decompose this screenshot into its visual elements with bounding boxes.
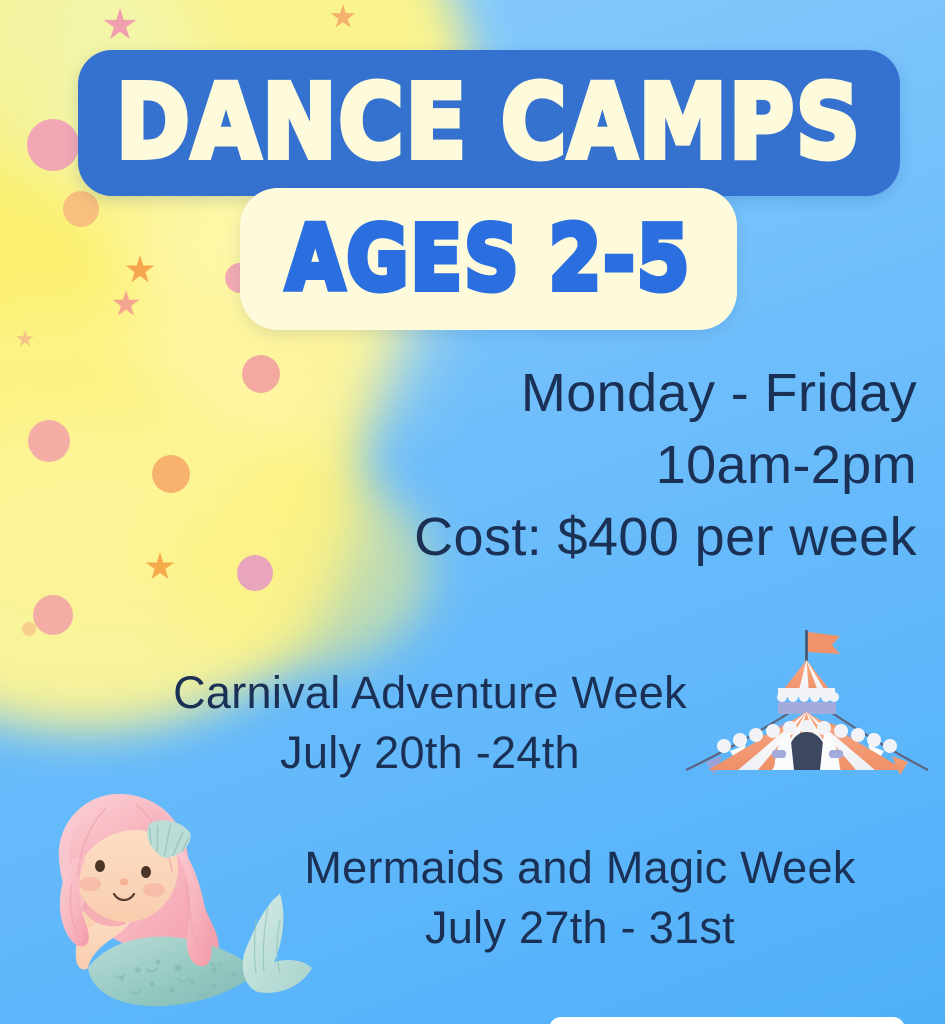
confetti-dot xyxy=(152,455,190,493)
confetti-dot xyxy=(22,622,36,636)
ages-badge: AGES 2-5 xyxy=(240,188,737,330)
confetti-star xyxy=(125,255,155,285)
bottom-panel xyxy=(549,1017,905,1024)
confetti-dot xyxy=(63,191,99,227)
confetti-dot xyxy=(28,420,70,462)
camp-week-carnival: Carnival Adventure Week July 20th -24th xyxy=(120,663,740,784)
confetti-dot xyxy=(27,119,79,171)
confetti-dot xyxy=(237,555,273,591)
schedule-cost: Cost: $400 per week xyxy=(297,502,917,574)
mermaid-icon xyxy=(18,772,318,1024)
week-dates: July 27th - 31st xyxy=(240,898,920,958)
schedule-hours: 10am-2pm xyxy=(297,430,917,502)
week-name: Mermaids and Magic Week xyxy=(240,838,920,898)
confetti-star xyxy=(103,8,137,42)
confetti-dot xyxy=(33,595,73,635)
poster-canvas: DANCE CAMPS AGES 2-5 Monday - Friday 10a… xyxy=(0,0,945,1024)
week-name: Carnival Adventure Week xyxy=(120,663,740,723)
confetti-dot xyxy=(242,355,280,393)
camp-week-mermaids: Mermaids and Magic Week July 27th - 31st xyxy=(240,838,920,959)
confetti-star xyxy=(16,330,34,348)
ages-label: AGES 2-5 xyxy=(286,215,691,304)
circus-tent-icon xyxy=(672,620,942,790)
schedule-info: Monday - Friday 10am-2pm Cost: $400 per … xyxy=(297,358,917,573)
schedule-days: Monday - Friday xyxy=(297,358,917,430)
page-title: DANCE CAMPS xyxy=(116,72,862,173)
confetti-star xyxy=(330,4,356,30)
confetti-star xyxy=(145,552,175,582)
confetti-star xyxy=(112,290,140,318)
title-banner: DANCE CAMPS xyxy=(78,50,900,196)
